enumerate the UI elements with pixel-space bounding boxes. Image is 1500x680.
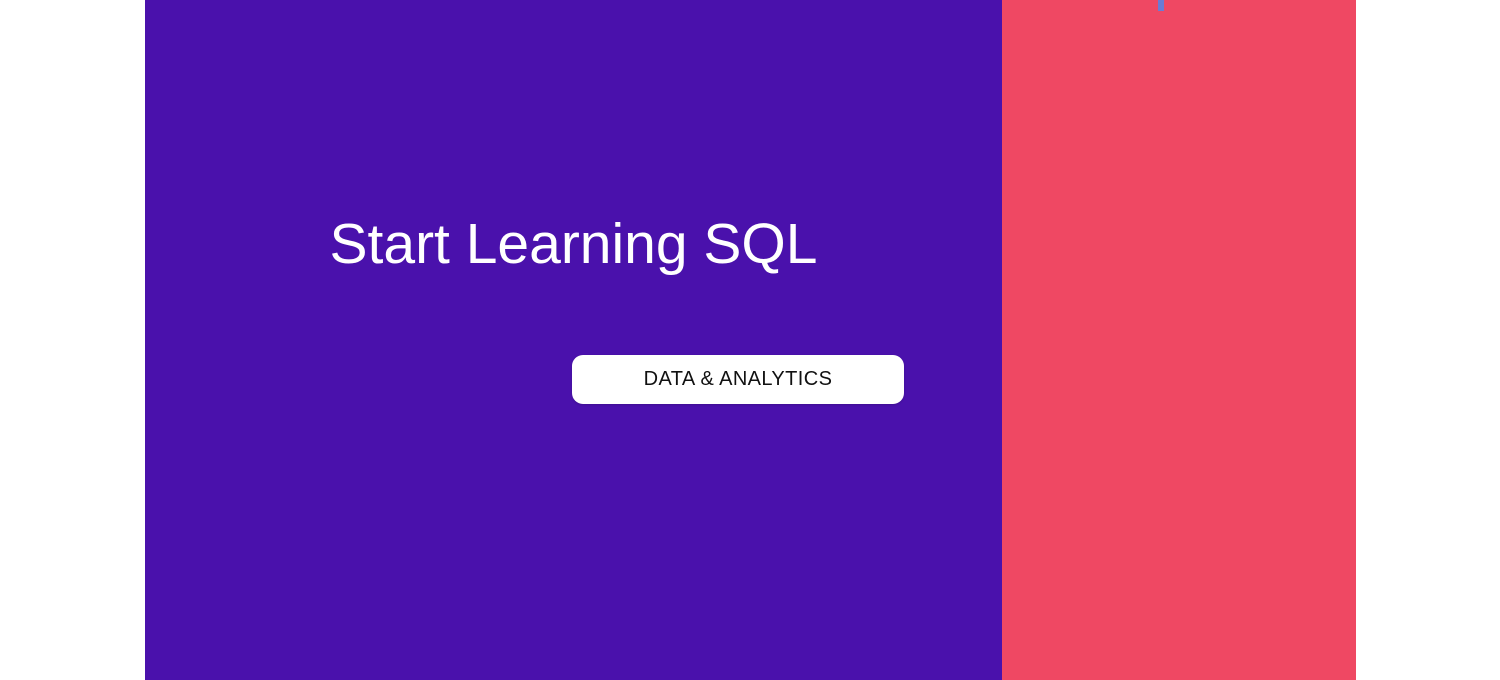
page-title: Start Learning SQL [145,216,1002,273]
accent-pink-panel [1002,0,1356,680]
data-and-analytics-button[interactable]: DATA & ANALYTICS [572,355,904,404]
accent-marker-bar [1158,0,1164,11]
right-white-margin [1356,0,1500,680]
hero-purple-panel: Start Learning SQL DATA & ANALYTICS [145,0,1002,680]
slide-canvas: Start Learning SQL DATA & ANALYTICS [0,0,1500,680]
left-white-margin [0,0,145,680]
